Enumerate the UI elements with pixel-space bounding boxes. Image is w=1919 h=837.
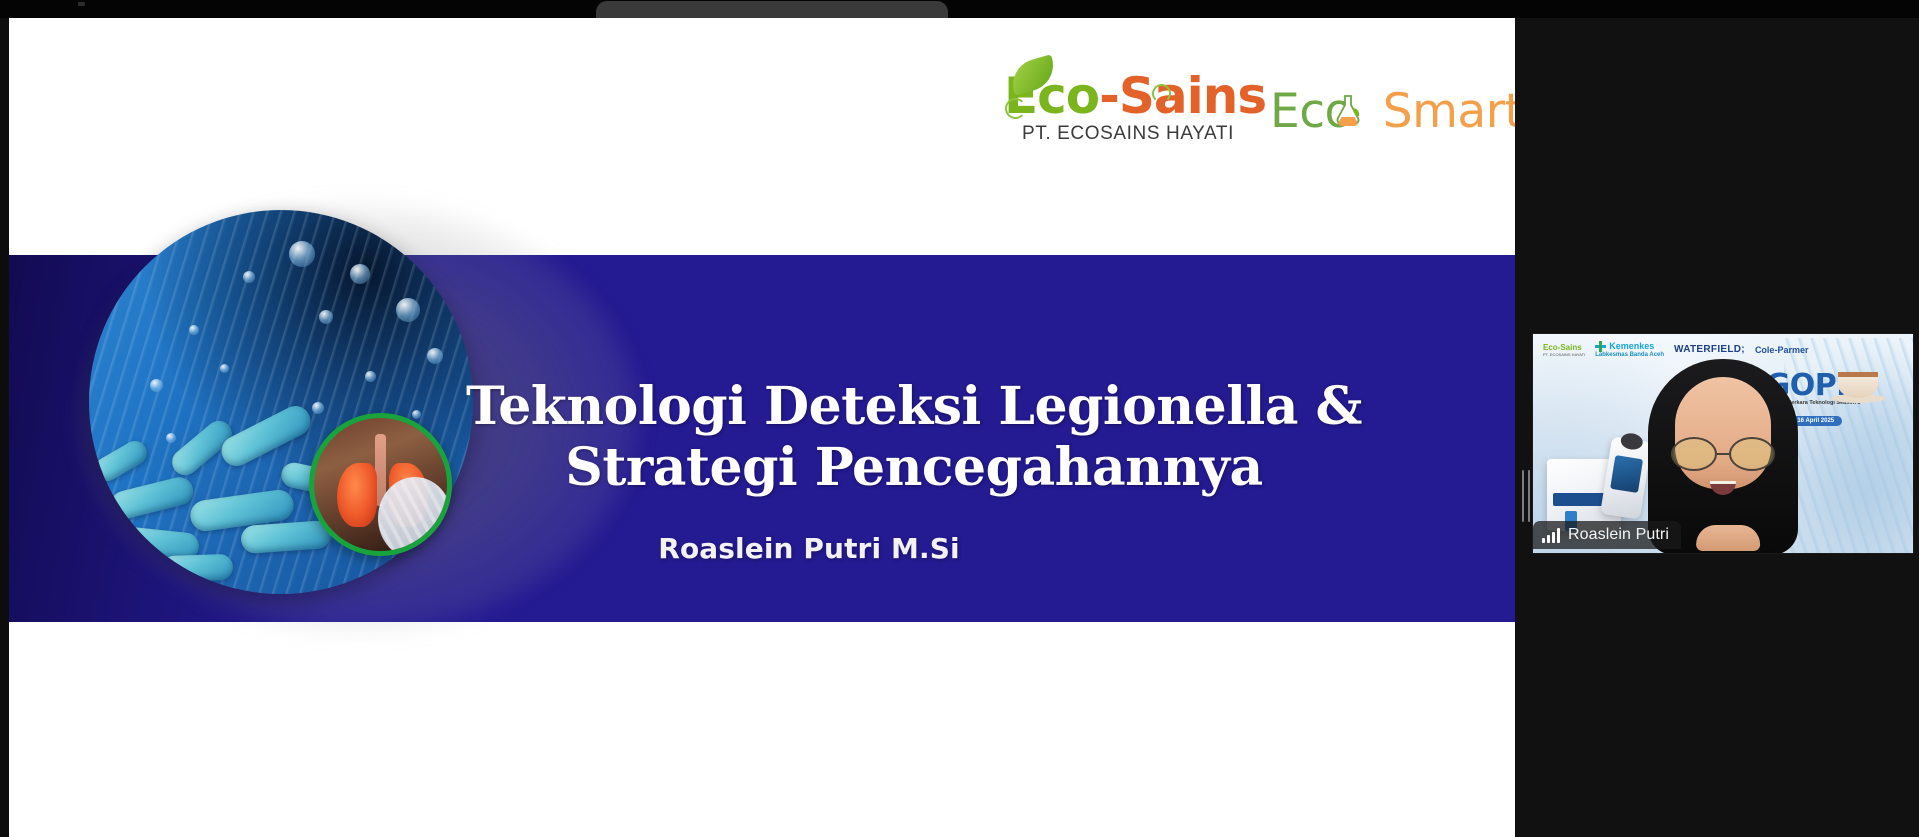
participant-name-label: Roaslein Putri: [1568, 526, 1669, 544]
meeting-top-strip: [0, 0, 1919, 18]
zoom-meeting-window: Eco-Sains PT. ECOSAINS HAYATI EcoSmartla…: [0, 0, 1919, 837]
handle-line-2: [1528, 470, 1530, 522]
top-strip-marker: [78, 2, 85, 6]
swirl-icon-right: [1152, 84, 1171, 103]
participant-name-badge: Roaslein Putri: [1533, 521, 1681, 549]
smartlab-word-smart: Smart: [1383, 84, 1515, 139]
signal-bars-icon: [1542, 528, 1560, 543]
ecosmartlab-wordmark: EcoSmartlab: [1270, 88, 1515, 135]
glasses-icon: [1671, 439, 1775, 469]
lens-right: [1729, 437, 1775, 471]
handle-line-1: [1522, 470, 1524, 522]
ecosains-subtitle: PT. ECOSAINS HAYATI: [1004, 123, 1252, 145]
screen-share-slide[interactable]: Eco-Sains PT. ECOSAINS HAYATI EcoSmartla…: [9, 18, 1515, 837]
hands-shape: [1696, 525, 1760, 551]
lens-bridge: [1717, 453, 1729, 456]
flask-icon: [1333, 94, 1363, 126]
face-shape: [1675, 377, 1771, 489]
bg-logo-cole-parmer: Cole-Parmer: [1755, 345, 1809, 355]
lung-left-shape: [337, 463, 377, 527]
lens-left: [1671, 437, 1717, 471]
bg-logo-ecosains: Eco-Sains PT. ECOSAINS HAYATI: [1543, 343, 1585, 357]
swirl-icon-left: [1005, 98, 1026, 119]
ecosmartlab-logo: EcoSmartlab: [1270, 68, 1515, 135]
ecosains-word-sains: -Sains: [1099, 67, 1266, 125]
coffee-cup-icon: [1838, 372, 1878, 398]
panel-resize-handle[interactable]: [1519, 466, 1533, 526]
kemenkes-cross-icon: [1595, 341, 1606, 352]
bg-logo-waterfield: WATERFIELD;: [1674, 344, 1745, 355]
ecosains-logo: Eco-Sains PT. ECOSAINS HAYATI: [1004, 68, 1252, 145]
slide-presenter-name: Roaslein Putri M.Si: [389, 532, 1229, 565]
slide-title: Teknologi Deteksi Legionella & Strategi …: [389, 376, 1439, 499]
slide-logo-row: Eco-Sains PT. ECOSAINS HAYATI EcoSmartla…: [1004, 68, 1484, 160]
